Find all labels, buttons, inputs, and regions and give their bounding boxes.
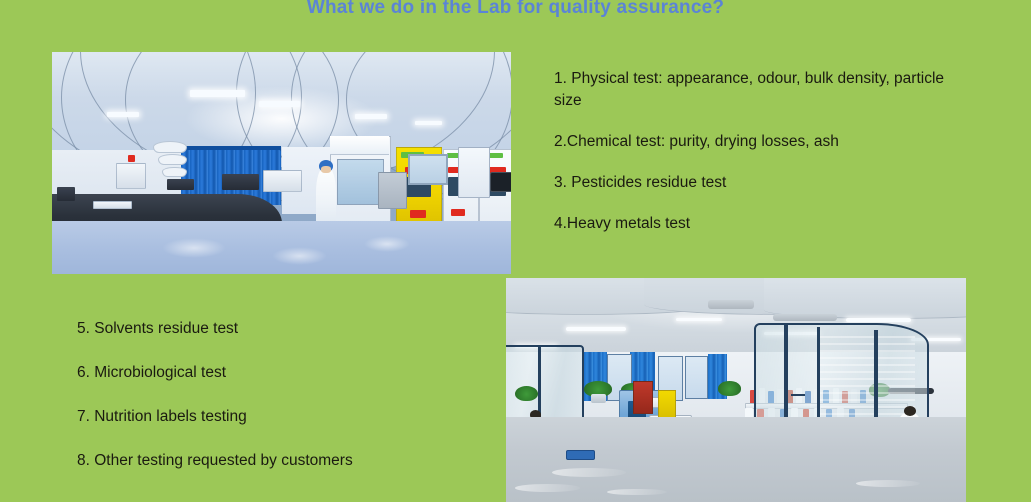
list-item: 3. Pesticides residue test [554, 172, 946, 194]
potted-plant [515, 386, 538, 402]
lab-photo-analytical [52, 52, 511, 274]
bench-instrument [222, 174, 259, 190]
floor [52, 221, 511, 274]
list-item: 8. Other testing requested by customers [77, 450, 497, 472]
red-door [633, 381, 653, 414]
left-glass-wall [506, 345, 584, 427]
bench-instrument [167, 179, 195, 190]
lab-photo-main [506, 278, 966, 502]
floor-reflection [364, 236, 410, 252]
slide-canvas: What we do in the Lab for quality assura… [0, 0, 1031, 502]
fume-hood-visor [330, 136, 390, 155]
list-item: 2.Chemical test: purity, drying losses, … [554, 131, 946, 153]
floor-reflection [856, 480, 920, 487]
technician-face [321, 166, 331, 173]
test-list-left: 5. Solvents residue test 6. Microbiologi… [77, 318, 497, 494]
ceiling-strip-light [566, 327, 626, 331]
cabinet-hazard-sign [451, 209, 465, 217]
ceiling-light [415, 121, 443, 125]
glass-door-handle [791, 394, 805, 396]
ceiling-duct [773, 314, 837, 321]
list-item: 1. Physical test: appearance, odour, bul… [554, 68, 946, 112]
bench-instrument [263, 170, 302, 192]
paper-sheet [93, 201, 132, 210]
bench-instrument [57, 187, 75, 200]
ceiling-strip-light [846, 318, 910, 322]
bench-lamp [158, 154, 188, 165]
ceiling-light [107, 112, 139, 117]
window [685, 356, 708, 398]
ceiling-strip-light [676, 318, 722, 321]
list-item: 6. Microbiological test [77, 362, 497, 384]
page-title: What we do in the Lab for quality assura… [0, 0, 1031, 19]
bench-lamp [153, 141, 187, 153]
wall-window [408, 154, 449, 185]
lab-technician [316, 167, 336, 227]
floor-equipment-case [566, 450, 596, 460]
ceiling-light [355, 114, 387, 119]
computer-monitor [490, 172, 511, 192]
test-list-right: 1. Physical test: appearance, odour, bul… [554, 68, 946, 254]
floor-reflection [515, 484, 579, 492]
grey-cabinet [378, 172, 408, 210]
room-door [458, 147, 490, 198]
technician-head [904, 406, 916, 416]
yellow-safety-cabinet [658, 390, 676, 419]
bench-lamp [162, 167, 187, 177]
ceiling-duct [708, 300, 754, 309]
indicator-light [128, 155, 135, 162]
ceiling-light [190, 90, 245, 98]
ceiling-light [259, 101, 300, 107]
list-item: 4.Heavy metals test [554, 213, 946, 235]
list-item: 7. Nutrition labels testing [77, 406, 497, 428]
cabinet-hazard-sign [410, 210, 426, 219]
potted-plant [718, 381, 741, 396]
bench-instrument [116, 163, 146, 189]
plant-pot [591, 394, 606, 403]
list-item: 5. Solvents residue test [77, 318, 497, 340]
